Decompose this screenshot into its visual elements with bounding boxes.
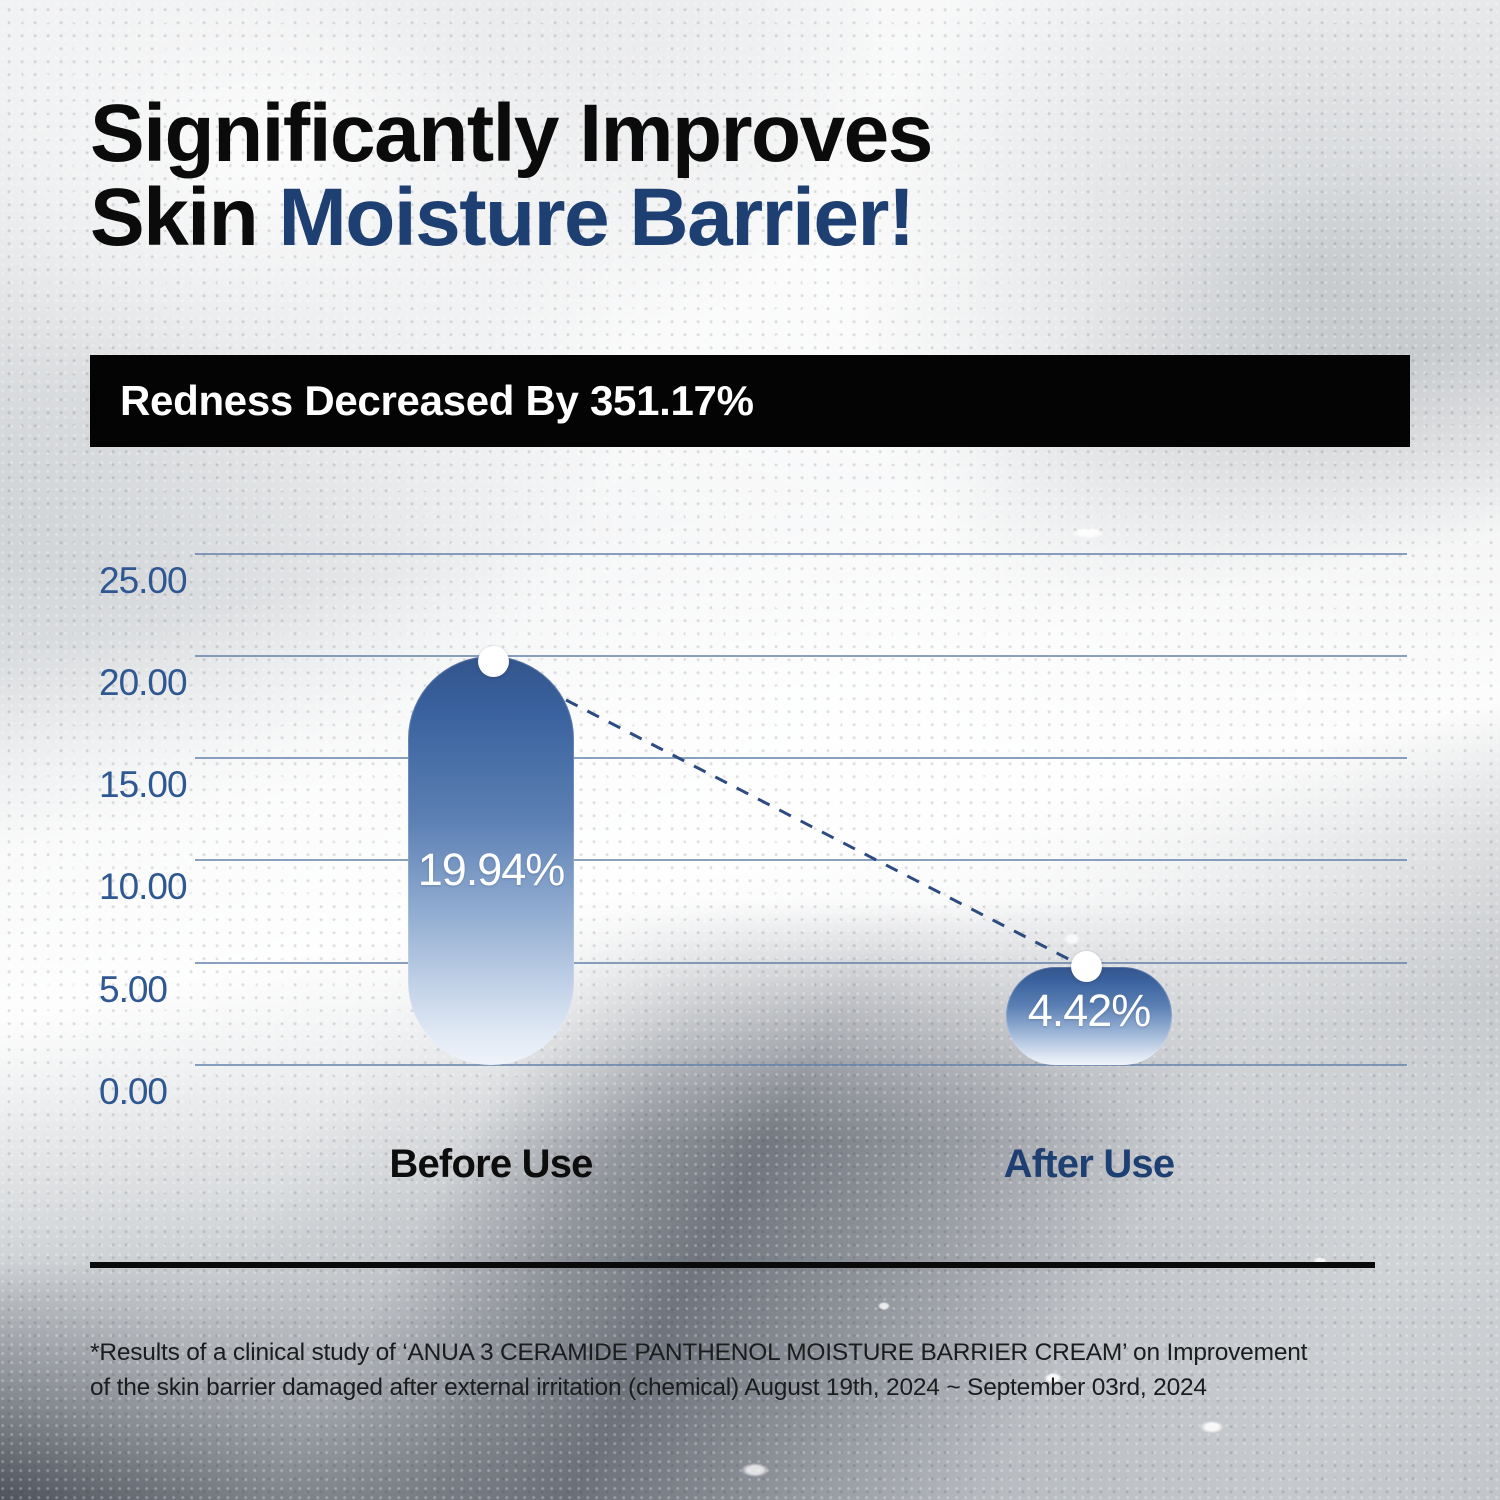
y-axis-label-15: 15.00 <box>99 764 187 806</box>
gridline-0 <box>195 1064 1407 1066</box>
bar-value-before-use: 19.94% <box>408 844 574 896</box>
gridline-10 <box>195 859 1407 861</box>
bar-chart: 25.00 20.00 15.00 10.00 5.00 0.00 19.94%… <box>0 0 1500 1500</box>
promotional-infographic: Significantly Improves Skin Moisture Bar… <box>0 0 1500 1500</box>
trend-connector-line <box>566 700 1082 966</box>
y-axis-label-25: 25.00 <box>99 560 187 602</box>
x-axis-label-after-use: After Use <box>976 1142 1202 1187</box>
footnote-line-2: of the skin barrier damaged after extern… <box>90 1371 1410 1406</box>
y-axis-label-10: 10.00 <box>99 866 187 908</box>
gridline-25 <box>195 553 1407 555</box>
y-axis-label-5: 5.00 <box>99 969 167 1011</box>
y-axis-label-0: 0.00 <box>99 1071 167 1113</box>
gridline-20 <box>195 655 1407 657</box>
bar-value-after-use: 4.42% <box>1006 985 1172 1037</box>
gridline-15 <box>195 757 1407 759</box>
marker-dot-after-use <box>1071 951 1102 982</box>
footnote-line-1: *Results of a clinical study of ‘ANUA 3 … <box>90 1336 1410 1371</box>
footer-divider <box>90 1262 1375 1268</box>
gridline-5 <box>195 962 1407 964</box>
marker-dot-before-use <box>478 646 509 677</box>
x-axis-label-before-use: Before Use <box>378 1142 604 1187</box>
y-axis-label-20: 20.00 <box>99 662 187 704</box>
bar-before-use[interactable]: 19.94% <box>408 656 574 1065</box>
footnote: *Results of a clinical study of ‘ANUA 3 … <box>90 1336 1410 1406</box>
trend-connector <box>0 0 1500 1500</box>
